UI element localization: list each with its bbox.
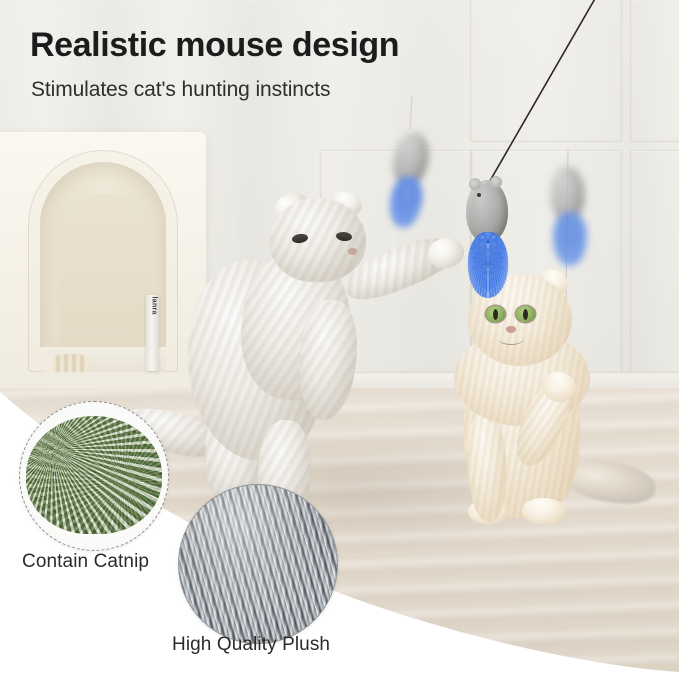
wall-panel: [470, 0, 622, 142]
mouse-ear-left: [469, 178, 481, 190]
plush-sheen: [179, 485, 337, 643]
cat-house-arch-back: [60, 194, 152, 372]
callout-circle-catnip: [19, 401, 169, 551]
mouse-eye: [477, 193, 481, 197]
blue-feather-tail: [468, 232, 508, 298]
cat-nose: [348, 248, 357, 255]
wall-panel: [630, 0, 679, 142]
cat-mouth: [498, 332, 524, 345]
cat-eye-right: [516, 306, 535, 322]
cat-head: [270, 198, 366, 282]
scene-photo: lanra: [0, 0, 679, 679]
feather-barbs: [553, 212, 587, 266]
mouse-ear-right: [490, 176, 502, 188]
callout-circle-plush: [178, 484, 338, 644]
product-image: lanra: [0, 0, 679, 679]
checkered-cushion: [52, 354, 88, 372]
cat-eye-left: [486, 306, 505, 322]
caption-high-quality-plush: High Quality Plush: [172, 634, 330, 656]
toy-mouse-blurred-left: [394, 132, 428, 186]
cat-silver-tabby: [150, 190, 450, 490]
toy-mouse-main: [466, 180, 508, 242]
toy-mouse-blurred-right: [551, 166, 584, 222]
cat-cream-persian: [438, 272, 654, 542]
headline: Realistic mouse design: [30, 28, 399, 62]
blue-feather-tail: [553, 212, 587, 266]
subheadline: Stimulates cat's hunting instincts: [31, 79, 330, 100]
cat-paw-back-right: [522, 498, 566, 524]
caption-contain-catnip: Contain Catnip: [22, 551, 149, 573]
catnip-pile: [26, 416, 162, 534]
catnip-flakes-texture: [26, 416, 162, 534]
feather-barbs: [468, 232, 508, 298]
